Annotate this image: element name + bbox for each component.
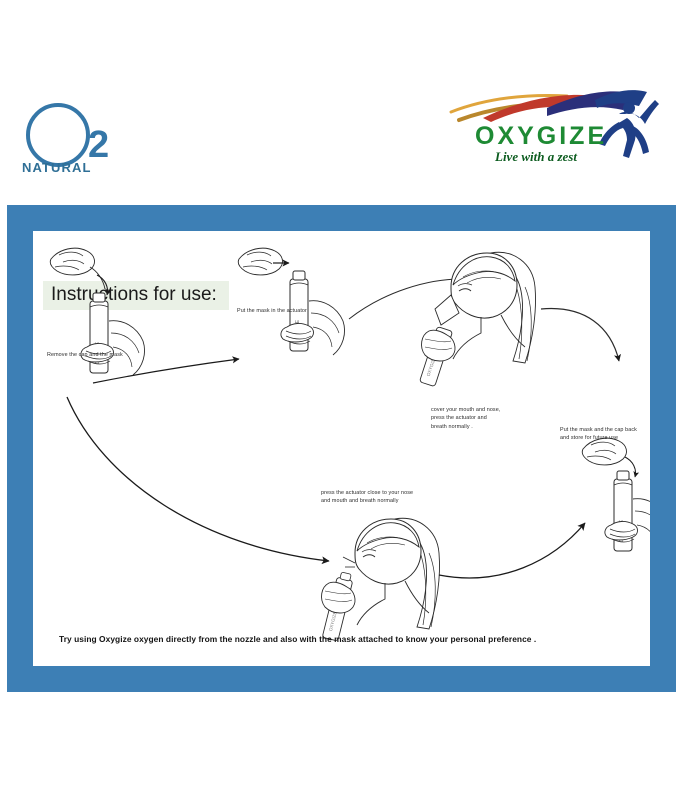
arrow-1-to-5 bbox=[67, 397, 329, 561]
step-2-caption: Put the mask in the actuator bbox=[237, 307, 307, 315]
instruction-diagram: OXYGIZE bbox=[33, 231, 650, 666]
instruction-panel: Instructions for use: OXYGIZE bbox=[33, 231, 650, 666]
header: 2 NATURAL OXYGIZE L bbox=[0, 0, 683, 200]
svg-text:Live with a zest: Live with a zest bbox=[494, 149, 577, 164]
step-1-caption: Remove the cap and the mask bbox=[47, 351, 123, 359]
instruction-panel-frame: Instructions for use: OXYGIZE bbox=[7, 205, 676, 692]
oxygize-brand-logo: OXYGIZE Live with a zest bbox=[447, 82, 662, 177]
illustration-step-4 bbox=[582, 438, 650, 553]
o2-natural-label: NATURAL bbox=[22, 160, 92, 175]
arrow-5-to-4 bbox=[439, 523, 585, 578]
step-4-caption: Put the mask and the cap back and store … bbox=[560, 426, 637, 443]
svg-text:OXYGIZE: OXYGIZE bbox=[475, 122, 607, 150]
arrow-1-to-2 bbox=[93, 359, 239, 383]
footnote: Try using Oxygize oxygen directly from t… bbox=[59, 634, 536, 644]
illustration-step-5: OXYGIZE bbox=[322, 518, 440, 641]
product-instruction-sheet: 2 NATURAL OXYGIZE L bbox=[0, 0, 683, 800]
illustration-step-3: OXYGIZE bbox=[419, 252, 535, 386]
step-5-caption: press the actuator close to your nose an… bbox=[321, 489, 413, 506]
arrow-3-to-4 bbox=[541, 309, 619, 361]
step-3-caption: cover your mouth and nose, press the act… bbox=[431, 406, 500, 431]
illustration-step-2 bbox=[238, 248, 344, 355]
